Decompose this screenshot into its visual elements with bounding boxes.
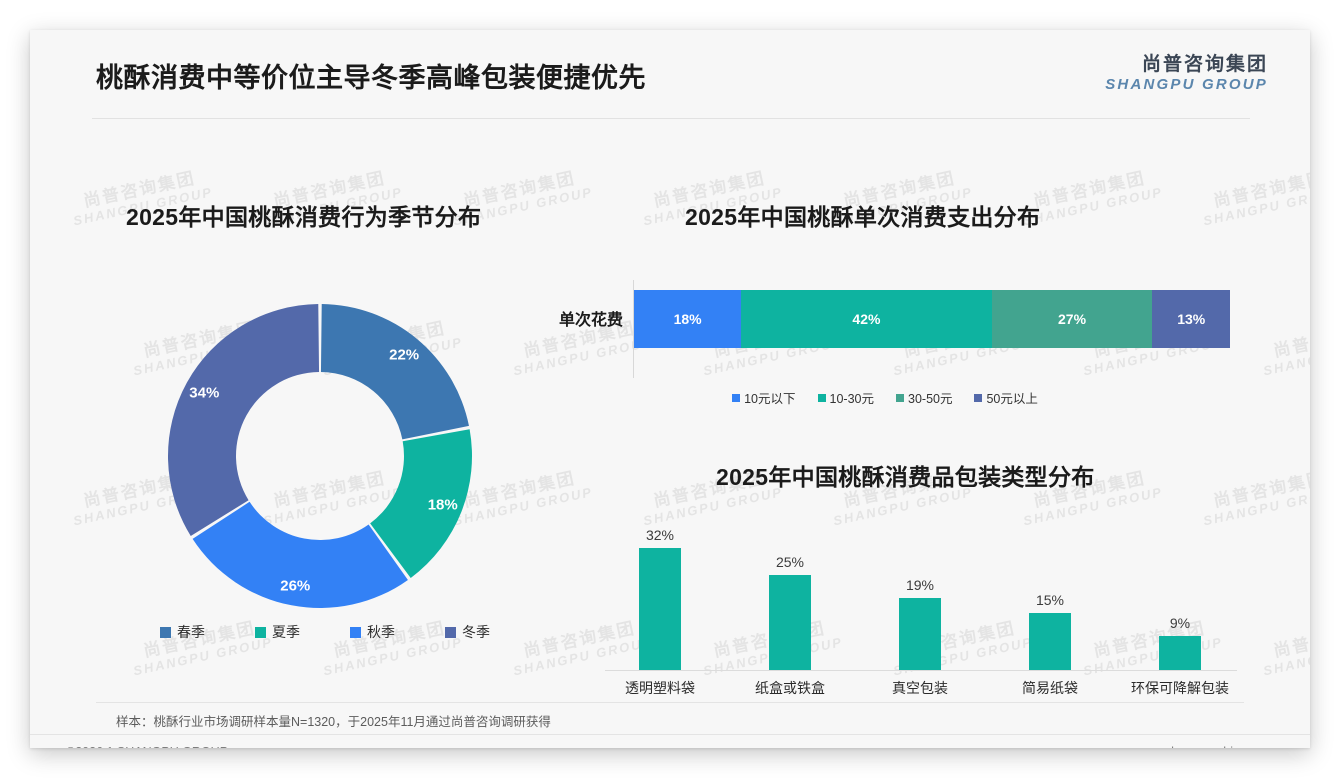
page-title: 桃酥消费中等价位主导冬季高峰包装便捷优先 (96, 56, 646, 95)
donut-legend-item[interactable]: 春季 (160, 622, 205, 642)
legend-swatch-icon (255, 627, 266, 638)
slide-footer: ©2026.1 SHANGPU GROUP www.shangpu-china.… (30, 735, 1310, 748)
stacked-bar-segment[interactable]: 18% (634, 290, 741, 348)
donut-slice[interactable] (321, 304, 469, 439)
column-value-label: 15% (1036, 592, 1064, 608)
column-group: 32% (595, 500, 725, 670)
donut-slice-value: 22% (389, 346, 419, 363)
column-bar[interactable] (769, 575, 811, 670)
donut-slice[interactable] (168, 304, 319, 536)
donut-slice-value: 34% (189, 384, 219, 401)
footer-website: www.shangpu-china.com (1135, 745, 1274, 748)
column-value-label: 25% (776, 554, 804, 570)
donut-legend-label: 春季 (177, 622, 205, 642)
column-chart-axis-line (605, 670, 1237, 671)
legend-swatch-icon (350, 627, 361, 638)
column-bar[interactable] (899, 598, 941, 671)
donut-legend-label: 秋季 (367, 622, 395, 642)
footnote-divider (96, 702, 1244, 703)
stacked-bar-title: 2025年中国桃酥单次消费支出分布 (685, 198, 1040, 232)
slide-card: 尚普咨询集团SHANGPU GROUP尚普咨询集团SHANGPU GROUP尚普… (30, 30, 1310, 748)
packaging-column-chart: 32%25%19%15%9% 透明塑料袋纸盒或铁盒真空包装简易纸袋环保可降解包装 (595, 500, 1245, 710)
stacked-bar-legend-item[interactable]: 10-30元 (818, 388, 874, 407)
column-group: 15% (985, 500, 1115, 670)
legend-swatch-icon (896, 394, 904, 402)
column-group: 19% (855, 500, 985, 670)
column-bar[interactable] (1159, 636, 1201, 670)
donut-chart-title: 2025年中国桃酥消费行为季节分布 (126, 198, 481, 232)
slide-header: 桃酥消费中等价位主导冬季高峰包装便捷优先 尚普咨询集团 SHANGPU GROU… (30, 30, 1310, 118)
footer-copyright: ©2026.1 SHANGPU GROUP (66, 745, 228, 748)
brand-logo: 尚普咨询集团 SHANGPU GROUP (1105, 54, 1268, 94)
stacked-bar-legend-label: 10-30元 (830, 388, 874, 407)
donut-legend-item[interactable]: 秋季 (350, 622, 395, 642)
donut-legend-item[interactable]: 夏季 (255, 622, 300, 642)
column-chart-title: 2025年中国桃酥消费品包装类型分布 (716, 458, 1095, 492)
legend-swatch-icon (160, 627, 171, 638)
stacked-bar-segment[interactable]: 42% (741, 290, 991, 348)
donut-slice-value: 26% (280, 578, 310, 595)
sample-footnote: 样本：桃酥行业市场调研样本量N=1320，于2025年11月通过尚普咨询调研获得 (116, 711, 551, 730)
column-category-label: 简易纸袋 (985, 678, 1115, 698)
legend-swatch-icon (974, 394, 982, 402)
header-divider (92, 118, 1250, 119)
column-value-label: 32% (646, 527, 674, 543)
column-value-label: 19% (906, 577, 934, 593)
stacked-bar-legend-item[interactable]: 50元以上 (974, 388, 1037, 407)
column-value-label: 9% (1170, 615, 1190, 631)
column-group: 9% (1115, 500, 1245, 670)
donut-legend: 春季夏季秋季冬季 (160, 622, 490, 642)
column-category-label: 环保可降解包装 (1115, 678, 1245, 698)
stacked-bar-segment[interactable]: 13% (1152, 290, 1229, 348)
watermark-text: 尚普咨询集团SHANGPU GROUP (1258, 616, 1310, 679)
donut-svg: 22%18%26%34% (160, 296, 480, 616)
stacked-bar-legend-label: 30-50元 (908, 388, 952, 407)
donut-slice-value: 18% (428, 497, 458, 514)
donut-legend-label: 冬季 (462, 622, 490, 642)
donut-legend-label: 夏季 (272, 622, 300, 642)
column-bar[interactable] (639, 548, 681, 670)
stacked-bar-legend-label: 50元以上 (986, 388, 1037, 407)
brand-logo-cn: 尚普咨询集团 (1105, 54, 1268, 76)
column-chart-category-labels: 透明塑料袋纸盒或铁盒真空包装简易纸袋环保可降解包装 (595, 678, 1245, 698)
column-category-label: 纸盒或铁盒 (725, 678, 855, 698)
stacked-bar-category-label: 单次花费 (525, 306, 623, 330)
watermark-text: 尚普咨询集团SHANGPU GROUP (1258, 316, 1310, 379)
stacked-bar-segment[interactable]: 27% (992, 290, 1153, 348)
legend-swatch-icon (732, 394, 740, 402)
column-group: 25% (725, 500, 855, 670)
spend-stacked-bar-chart: 单次花费 18%42%27%13% (525, 280, 1245, 390)
brand-logo-en: SHANGPU GROUP (1105, 76, 1268, 94)
watermark-text: 尚普咨询集团SHANGPU GROUP (1198, 166, 1310, 229)
legend-swatch-icon (818, 394, 826, 402)
stacked-bar-track: 18%42%27%13% (634, 290, 1230, 348)
legend-swatch-icon (445, 627, 456, 638)
column-category-label: 透明塑料袋 (595, 678, 725, 698)
stacked-bar-legend: 10元以下10-30元30-50元50元以上 (525, 388, 1245, 407)
stacked-bar-legend-item[interactable]: 10元以下 (732, 388, 795, 407)
column-chart-plot: 32%25%19%15%9% (595, 500, 1245, 670)
donut-legend-item[interactable]: 冬季 (445, 622, 490, 642)
stacked-bar-legend-label: 10元以下 (744, 388, 795, 407)
seasonal-donut-chart: 22%18%26%34% (160, 296, 480, 616)
column-category-label: 真空包装 (855, 678, 985, 698)
stacked-bar-legend-item[interactable]: 30-50元 (896, 388, 952, 407)
column-bar[interactable] (1029, 613, 1071, 670)
